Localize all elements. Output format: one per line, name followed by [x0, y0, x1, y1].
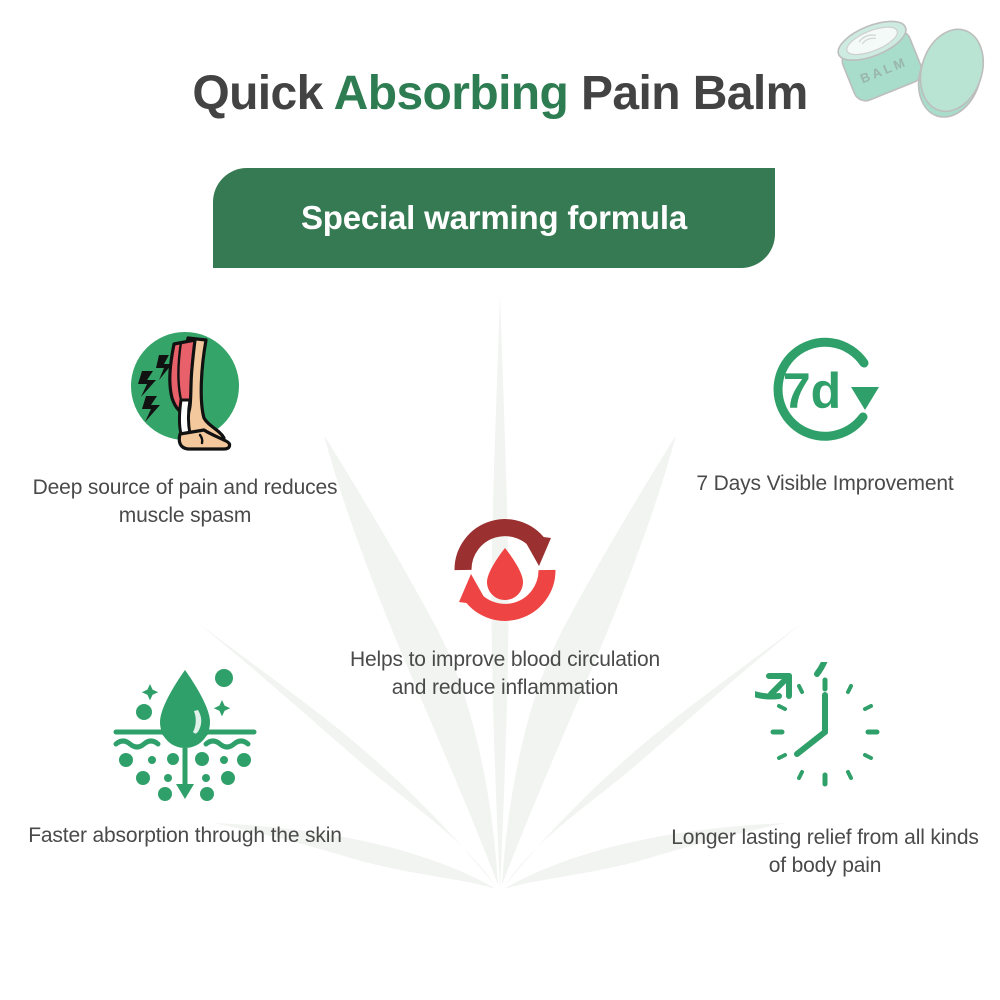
blood-circulation-icon: [447, 512, 563, 628]
skin-absorption-icon: [110, 660, 260, 802]
leg-pain-icon: [124, 330, 246, 456]
feature-caption: Faster absorption through the skin: [20, 822, 350, 850]
banner-label: Special warming formula: [301, 199, 687, 237]
feature-deep-pain-relief: Deep source of pain and reduces muscle s…: [10, 330, 360, 530]
infographic-page: BALM Quick Absorbing Pain Balm Special w…: [0, 0, 1000, 1000]
seven-day-badge: 7d: [783, 363, 841, 419]
balm-jar-illustration: BALM: [824, 0, 996, 126]
feature-faster-absorption: Faster absorption through the skin: [10, 660, 360, 850]
clock-icon: [755, 662, 895, 802]
feature-caption: Helps to improve blood circulation and r…: [333, 646, 678, 702]
feature-blood-circulation: Helps to improve blood circulation and r…: [330, 512, 680, 702]
feature-seven-days: 7d 7 Days Visible Improvement: [650, 332, 1000, 498]
headline-part-one: Quick: [192, 67, 333, 120]
headline-part-two: Pain Balm: [568, 67, 807, 120]
feature-caption: Longer lasting relief from all kinds of …: [660, 824, 990, 880]
seven-day-cycle-icon: 7d: [751, 332, 899, 450]
feature-caption: Deep source of pain and reduces muscle s…: [30, 474, 340, 530]
headline-accent: Absorbing: [334, 67, 569, 120]
special-formula-banner: Special warming formula: [213, 168, 775, 268]
feature-caption: 7 Days Visible Improvement: [660, 470, 990, 498]
feature-long-lasting: Longer lasting relief from all kinds of …: [650, 662, 1000, 880]
